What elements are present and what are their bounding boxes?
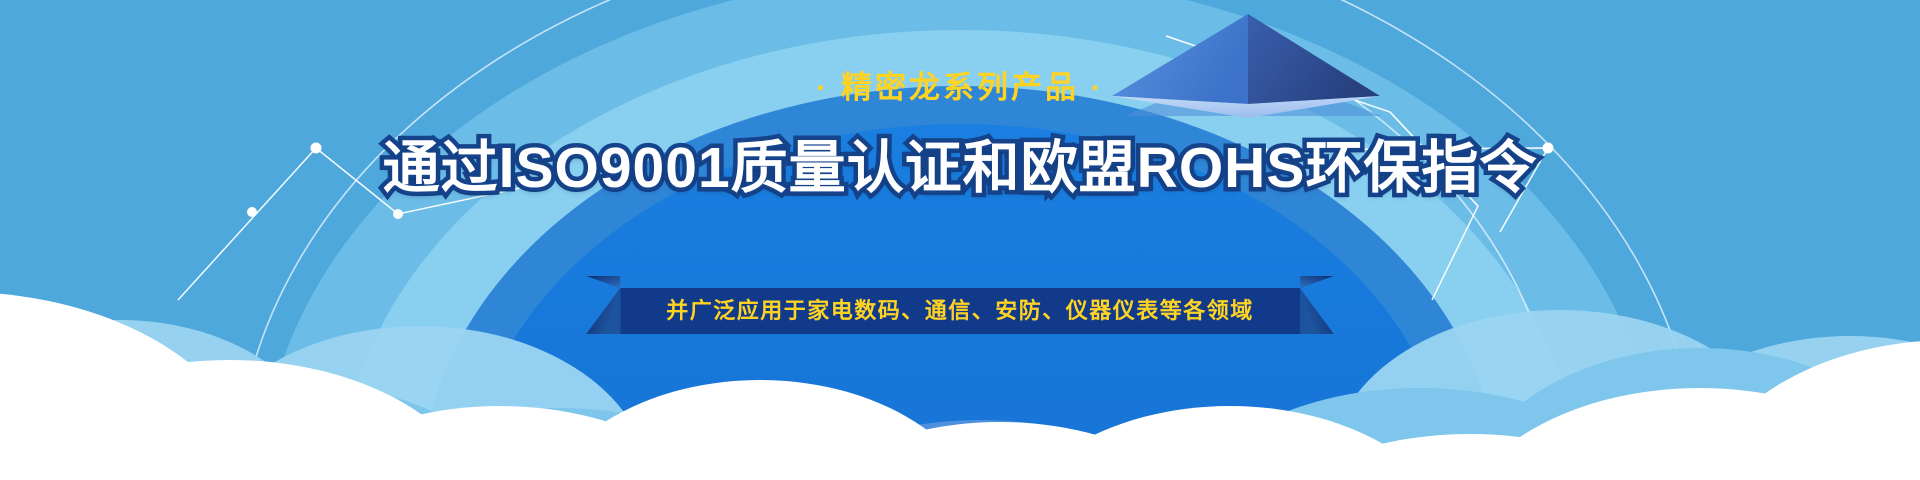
promo-banner: · 精密龙系列产品 · 通过ISO9001质量认证和欧盟ROHS环保指令 并广泛…	[0, 0, 1920, 480]
layered-clouds	[0, 0, 1920, 480]
